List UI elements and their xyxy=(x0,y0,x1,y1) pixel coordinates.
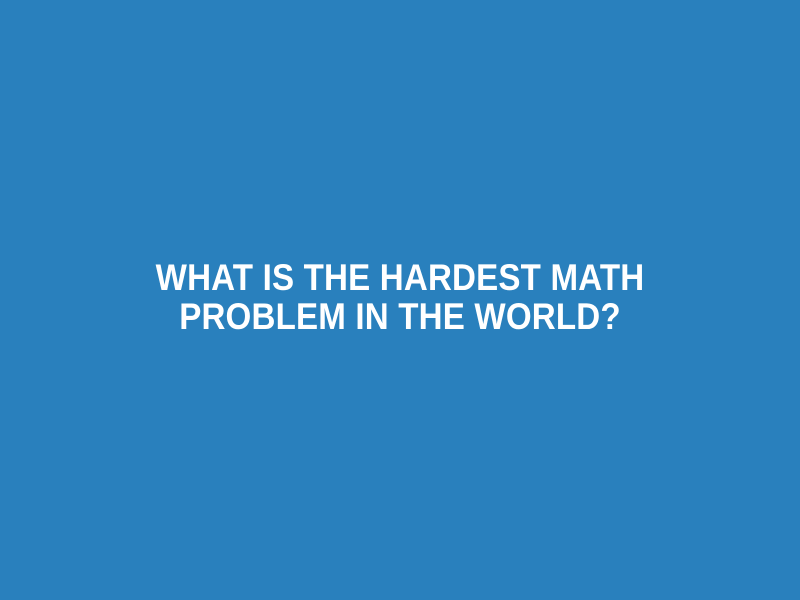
headline-block: What is the hardest math problem in the … xyxy=(30,258,770,336)
page-title: What is the hardest math problem in the … xyxy=(69,258,731,336)
banner-card: What is the hardest math problem in the … xyxy=(0,0,800,600)
